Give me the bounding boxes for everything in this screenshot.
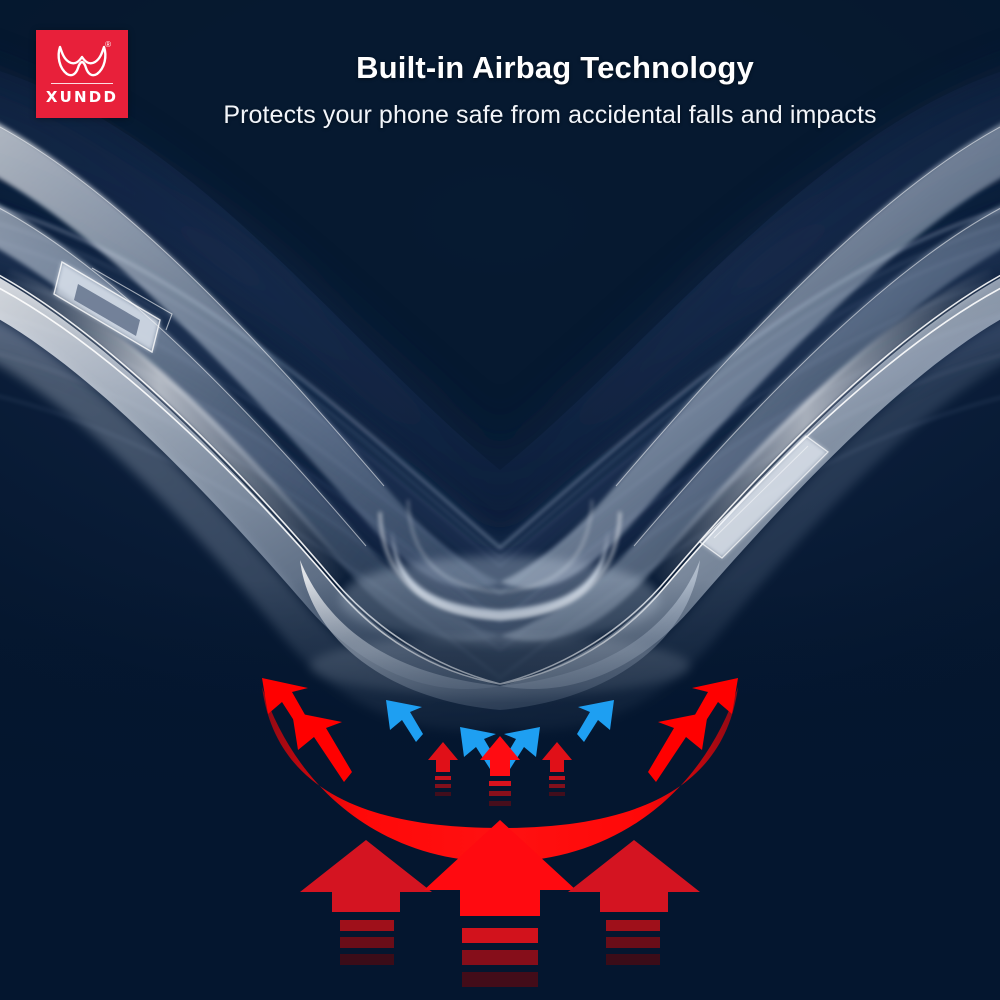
bottom-fade [0, 580, 1000, 1000]
page-subtitle: Protects your phone safe from accidental… [110, 101, 990, 130]
logo-divider [51, 83, 113, 84]
logo-wordmark: XUNDD [46, 88, 118, 106]
page-title: Built-in Airbag Technology [150, 50, 960, 86]
header: ® XUNDD Built-in Airbag Technology Prote… [0, 0, 1000, 150]
product-marketing-image: ® XUNDD Built-in Airbag Technology Prote… [0, 0, 1000, 1000]
xundd-butterfly-mark: ® [54, 44, 110, 78]
registered-trademark-icon: ® [105, 41, 111, 49]
